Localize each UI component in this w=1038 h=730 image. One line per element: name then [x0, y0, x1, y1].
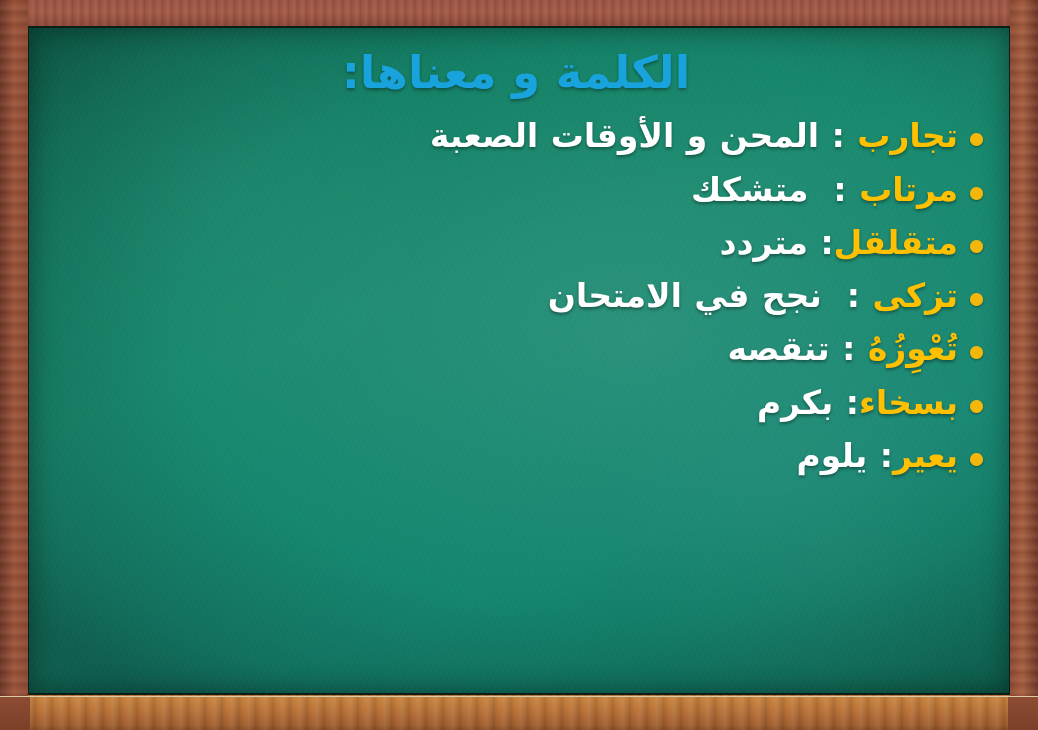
- vocabulary-item: تُعْوِزُهُ : تنقصه: [49, 329, 983, 369]
- vocabulary-gloss: نجح في الامتحان: [548, 276, 822, 315]
- bullet-icon: [970, 453, 983, 466]
- vocabulary-gloss: تنقصه: [727, 329, 829, 368]
- bullet-icon: [970, 346, 983, 359]
- vocabulary-gloss: متشكك: [691, 170, 808, 209]
- bullet-icon: [970, 187, 983, 200]
- vocabulary-item-text: تُعْوِزُهُ : تنقصه: [49, 329, 958, 369]
- chalk-ledge-cap-right: [1008, 697, 1038, 730]
- chalk-ledge-cap-left: [0, 697, 30, 730]
- frame-rail-left: [0, 0, 28, 730]
- vocabulary-item-text: يعير: يلوم: [49, 436, 958, 476]
- vocabulary-item: تجارب : المحن و الأوقات الصعبة: [49, 116, 983, 156]
- chalkboard-surface: الكلمة و معناها: تجارب : المحن و الأوقات…: [27, 26, 1011, 695]
- vocabulary-term: تزكى: [873, 276, 959, 315]
- vocabulary-gloss: المحن و الأوقات الصعبة: [430, 116, 819, 155]
- bullet-icon: [970, 400, 983, 413]
- vocabulary-separator: :: [830, 329, 868, 368]
- vocabulary-term: متقلقل: [834, 223, 958, 262]
- bullet-icon: [970, 293, 983, 306]
- vocabulary-separator: :: [819, 116, 857, 155]
- vocabulary-item-text: متقلقل: متردد: [49, 223, 958, 263]
- vocabulary-term: بسخاء: [859, 383, 958, 422]
- vocabulary-item-text: بسخاء: بكرم: [49, 383, 958, 423]
- vocabulary-list: تجارب : المحن و الأوقات الصعبةمرتاب : مت…: [49, 116, 983, 476]
- chalk-ledge: [0, 696, 1038, 730]
- vocabulary-item: متقلقل: متردد: [49, 223, 983, 263]
- vocabulary-gloss: يلوم: [797, 436, 868, 475]
- slide-title: الكلمة و معناها:: [49, 28, 983, 98]
- vocabulary-item: تزكى : نجح في الامتحان: [49, 276, 983, 316]
- vocabulary-term: تُعْوِزُهُ: [868, 329, 958, 368]
- chalkboard-content: الكلمة و معناها: تجارب : المحن و الأوقات…: [29, 28, 1009, 693]
- bullet-icon: [970, 133, 983, 146]
- vocabulary-item: مرتاب : متشكك: [49, 170, 983, 210]
- vocabulary-separator: :: [833, 383, 859, 422]
- vocabulary-item-text: مرتاب : متشكك: [49, 170, 958, 210]
- vocabulary-item-text: تجارب : المحن و الأوقات الصعبة: [49, 116, 958, 156]
- frame-rail-right: [1010, 0, 1038, 730]
- vocabulary-term: يعير: [893, 436, 958, 475]
- vocabulary-gloss: متردد: [720, 223, 808, 262]
- vocabulary-separator: :: [808, 223, 834, 262]
- vocabulary-separator: :: [867, 436, 893, 475]
- vocabulary-item: بسخاء: بكرم: [49, 383, 983, 423]
- bullet-icon: [970, 240, 983, 253]
- vocabulary-separator: :: [822, 276, 873, 315]
- vocabulary-item-text: تزكى : نجح في الامتحان: [49, 276, 958, 316]
- chalkboard-wooden-frame: الكلمة و معناها: تجارب : المحن و الأوقات…: [0, 0, 1038, 730]
- vocabulary-item: يعير: يلوم: [49, 436, 983, 476]
- vocabulary-separator: :: [808, 170, 859, 209]
- vocabulary-term: تجارب: [857, 116, 958, 155]
- vocabulary-gloss: بكرم: [757, 383, 833, 422]
- vocabulary-term: مرتاب: [859, 170, 958, 209]
